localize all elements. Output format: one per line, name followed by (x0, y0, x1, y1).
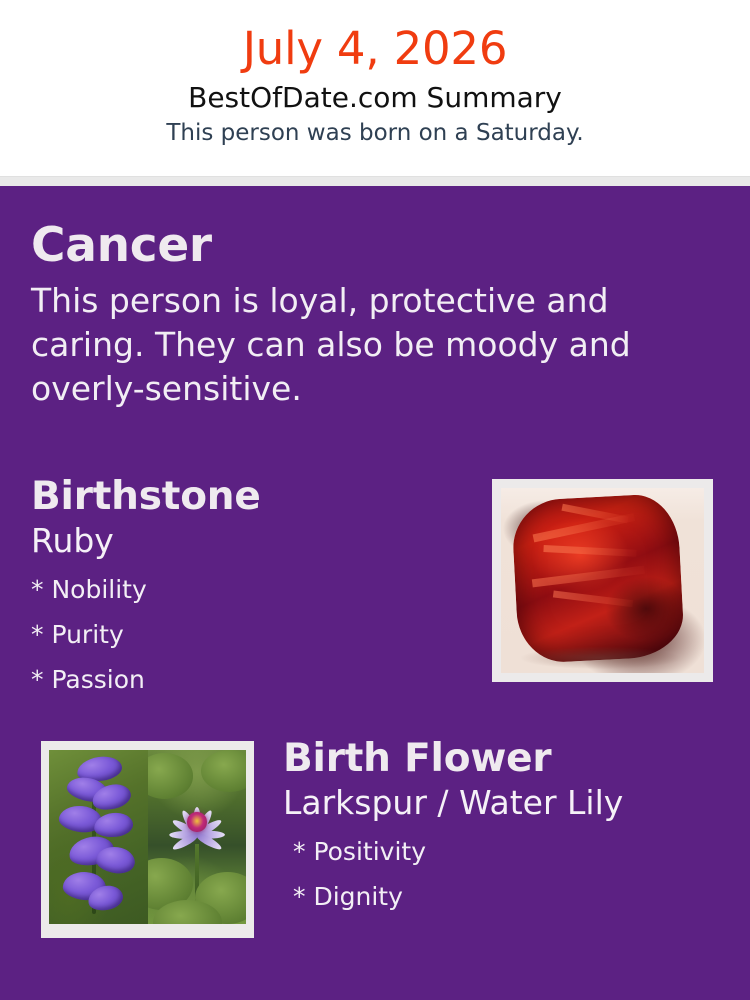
birthstone-name: Ruby (31, 521, 461, 561)
lily-pad-icon (148, 753, 193, 798)
birthflower-name: Larkspur / Water Lily (283, 783, 723, 823)
birthstone-trait-list: * Nobility * Purity * Passion (31, 567, 461, 702)
gem-facet-icon (553, 590, 633, 606)
birthstone-heading: Birthstone (31, 474, 461, 520)
ruby-gemstone-icon (501, 488, 704, 673)
list-item: * Dignity (293, 874, 723, 919)
birthflower-image-frame (41, 741, 254, 938)
ruby-crystal-shape (511, 493, 686, 664)
header-divider (0, 176, 750, 186)
birthflower-section: Birth Flower Larkspur / Water Lily * Pos… (283, 736, 723, 919)
flower-photo-pair (49, 750, 246, 924)
birthflower-trait-list: * Positivity * Dignity (293, 829, 723, 919)
list-item: * Nobility (31, 567, 461, 612)
water-lily-bloom (165, 795, 228, 851)
list-item: * Purity (31, 612, 461, 657)
weekday-statement: This person was born on a Saturday. (0, 118, 750, 148)
gem-shadow (521, 647, 679, 669)
page-header: July 4, 2026 BestOfDate.com Summary This… (0, 0, 750, 176)
birthflower-heading: Birth Flower (283, 736, 723, 782)
list-item: * Positivity (293, 829, 723, 874)
site-name-subtitle: BestOfDate.com Summary (0, 80, 750, 116)
zodiac-description: This person is loyal, protective and car… (31, 279, 651, 411)
list-item: * Passion (31, 657, 461, 702)
birthstone-image-frame (492, 479, 713, 682)
lily-stamen-center (187, 812, 207, 832)
water-lily-flower-icon (148, 750, 247, 924)
birthstone-image (501, 488, 704, 673)
birthstone-section: Birthstone Ruby * Nobility * Purity * Pa… (31, 474, 461, 702)
gem-facet-icon (532, 566, 645, 588)
page-title-date: July 4, 2026 (0, 22, 750, 76)
gem-facet-icon (544, 546, 637, 557)
summary-panel: Cancer This person is loyal, protective … (0, 186, 750, 1000)
zodiac-section: Cancer This person is loyal, protective … (31, 218, 691, 411)
larkspur-petal (95, 845, 138, 876)
lily-pad-icon (201, 750, 246, 792)
birthflower-image (49, 750, 246, 924)
larkspur-flower-icon (49, 750, 148, 924)
zodiac-sign-name: Cancer (31, 218, 691, 274)
